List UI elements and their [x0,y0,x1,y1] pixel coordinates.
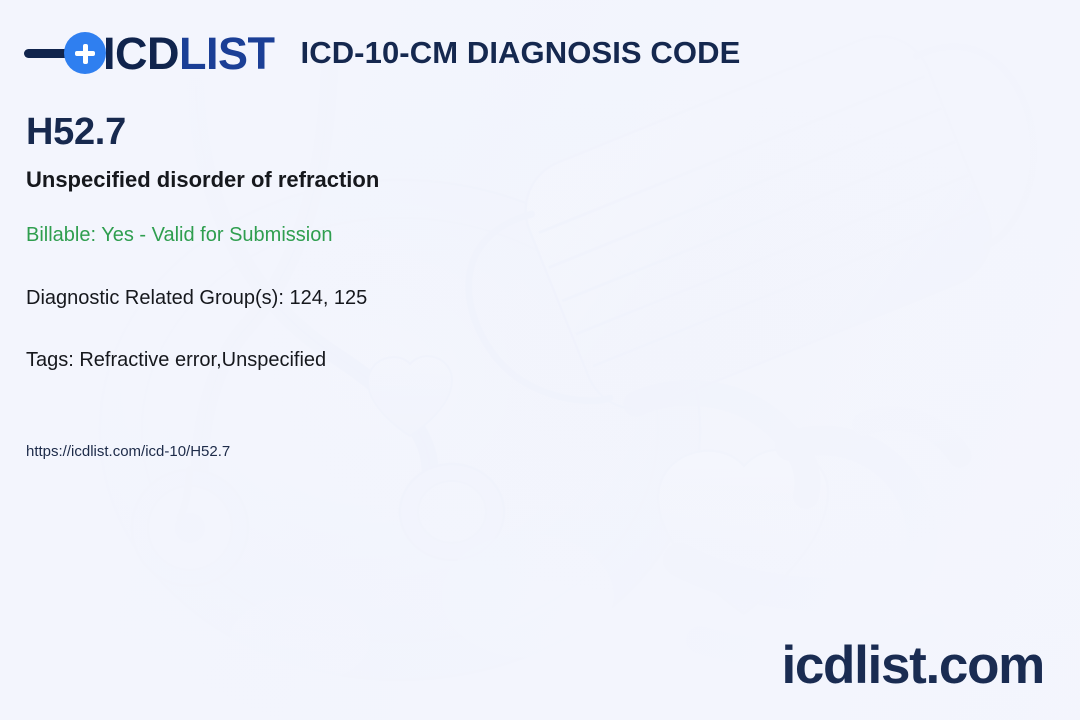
footer-brand: icdlist.com [781,639,1044,692]
plus-circle-icon [64,32,106,74]
diagnosis-code: H52.7 [26,112,126,154]
icd-code-card: ICDLIST ICD-10-CM DIAGNOSIS CODE H52.7 U… [0,0,1080,720]
billable-status: Billable: Yes - Valid for Submission [26,223,332,248]
drg-line: Diagnostic Related Group(s): 124, 125 [26,286,367,311]
icdlist-logo[interactable]: ICDLIST [24,24,275,82]
logo-word-list: LIST [179,28,275,79]
logo-word-icd: ICD [103,28,179,79]
page-title: ICD-10-CM DIAGNOSIS CODE [301,35,741,71]
logo-wordmark: ICDLIST [103,31,275,76]
card-content: ICDLIST ICD-10-CM DIAGNOSIS CODE H52.7 U… [0,0,1080,720]
source-url[interactable]: https://icdlist.com/icd-10/H52.7 [26,443,230,462]
tags-line: Tags: Refractive error,Unspecified [26,348,326,373]
page-header: ICDLIST ICD-10-CM DIAGNOSIS CODE [24,24,1056,82]
diagnosis-description: Unspecified disorder of refraction [26,166,379,194]
